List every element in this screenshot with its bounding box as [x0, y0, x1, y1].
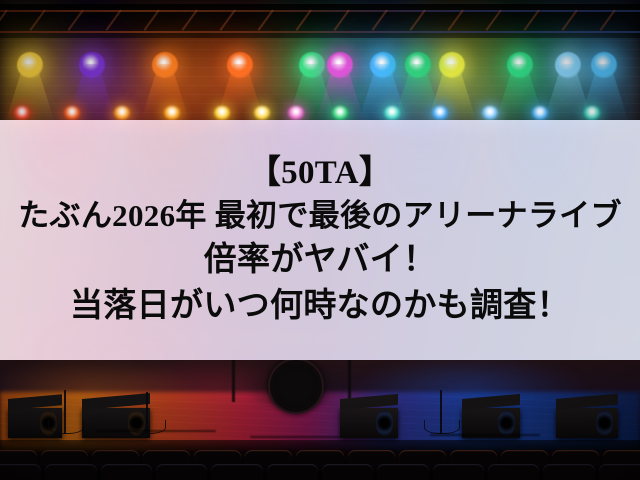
- truss-diagonal: [523, 9, 539, 30]
- monitor-wedge-5: [556, 408, 618, 438]
- audience-seat: [599, 464, 640, 480]
- low-light-5-icon: [214, 106, 230, 120]
- truss-diagonal: [143, 9, 159, 30]
- lighting-truss: [0, 4, 640, 38]
- spotlight-11-beam-cone: [314, 64, 366, 126]
- audience-seat: [488, 464, 539, 480]
- low-light-7-icon: [288, 106, 304, 120]
- audience-seat: [377, 464, 428, 480]
- monitor-wedge-3: [340, 408, 398, 438]
- audience-seat: [433, 464, 484, 480]
- mic-stand-3: [440, 390, 442, 434]
- stage-cable-2: [250, 436, 340, 438]
- spotlight-12-beam-cone: [392, 64, 444, 126]
- seat-row: [0, 464, 640, 480]
- title-overlay-band: 【50TA】 たぶん2026年 最初で最後のアリーナライブ 倍率がヤバイ！ 当落…: [0, 120, 640, 360]
- truss-diagonal: [0, 9, 8, 30]
- low-light-11-icon: [482, 106, 498, 120]
- spotlight-7-beam-cone: [426, 64, 478, 126]
- low-light-9-icon: [384, 106, 400, 120]
- spotlight-3-beam-cone: [139, 64, 191, 126]
- truss-diagonal: [599, 9, 615, 30]
- truss-diagonal: [219, 9, 235, 30]
- low-light-8-icon: [332, 106, 348, 120]
- title-line-2: たぶん2026年 最初で最後のアリーナライブ: [18, 200, 622, 233]
- mic-stand-1: [64, 390, 66, 434]
- mic-stand-1-tripod-base: [48, 420, 84, 434]
- spotlight-4-beam-cone: [214, 64, 266, 126]
- spotlight-1-icon: [17, 52, 43, 78]
- truss-diagonal: [409, 9, 425, 30]
- spotlight-9-beam-cone: [542, 64, 594, 126]
- spotlight-2-icon: [79, 52, 105, 78]
- stage-cable-1: [96, 430, 216, 432]
- title-line-1: 【50TA】: [248, 156, 392, 191]
- low-light-4-icon: [164, 106, 180, 120]
- audience-seat: [45, 464, 96, 480]
- audience-seat: [322, 464, 373, 480]
- spotlight-10-beam-cone: [578, 64, 630, 126]
- monitor-wedge-4-driver: [498, 410, 515, 436]
- truss-diagonal: [371, 9, 387, 30]
- low-light-1-icon: [14, 106, 30, 120]
- truss-diagonal: [105, 9, 121, 30]
- spotlight-12-icon: [405, 52, 431, 78]
- audience-seat: [211, 464, 262, 480]
- truss-diagonal: [485, 9, 501, 30]
- audience-seating: [0, 452, 640, 480]
- spotlight-3-icon: [152, 52, 178, 78]
- stage-light-colorwash: [0, 0, 640, 130]
- title-line-4: 当落日がいつ何時なのかも調査！: [70, 289, 570, 324]
- spotlight-8-icon: [507, 52, 533, 78]
- low-light-3-icon: [114, 106, 130, 120]
- truss-diagonal: [257, 9, 273, 30]
- low-light-10-icon: [432, 106, 448, 120]
- spotlight-6-icon: [370, 52, 396, 78]
- truss-diagonal: [447, 9, 463, 30]
- bass-drum-icon: [268, 358, 324, 414]
- audience-seat: [156, 464, 207, 480]
- truss-diagonal: [67, 9, 83, 30]
- truss-diagonal: [295, 9, 311, 30]
- truss-diagonal: [333, 9, 349, 30]
- truss-bar-top: [0, 10, 640, 12]
- audience-seat: [0, 464, 41, 480]
- spotlight-5-beam-cone: [286, 64, 338, 126]
- audience-seat: [267, 464, 318, 480]
- low-light-13-icon: [584, 106, 600, 120]
- stage-thumbnail-image: 【50TA】 たぶん2026年 最初で最後のアリーナライブ 倍率がヤバイ！ 当落…: [0, 0, 640, 480]
- spotlight-9-icon: [555, 52, 581, 78]
- spotlight-11-icon: [327, 52, 353, 78]
- monitor-wedge-3-driver: [376, 410, 393, 436]
- truss-bar-bottom: [0, 31, 640, 33]
- cymbal-stand-right: [348, 356, 351, 402]
- spotlight-6-beam-cone: [357, 64, 409, 126]
- mic-stand-3-tripod-base: [424, 420, 460, 434]
- spotlight-10-icon: [591, 52, 617, 78]
- low-light-12-icon: [532, 106, 548, 120]
- truss-diagonal: [29, 9, 45, 30]
- title-line-3: 倍率がヤバイ！: [204, 243, 437, 278]
- audience-seat: [543, 464, 594, 480]
- spotlight-2-beam-cone: [66, 64, 118, 126]
- mic-stand-2: [146, 392, 148, 434]
- truss-diagonal: [181, 9, 197, 30]
- spotlight-7-icon: [439, 52, 465, 78]
- spotlight-5-icon: [299, 52, 325, 78]
- spotlight-8-beam-cone: [494, 64, 546, 126]
- audience-seat: [101, 464, 152, 480]
- stage-haze-streaks: [0, 40, 640, 130]
- stage-cable-3: [430, 434, 540, 436]
- cymbal-stand-left: [232, 356, 235, 402]
- spotlight-1-beam-cone: [4, 64, 56, 126]
- truss-diagonal: [561, 9, 577, 30]
- low-light-6-icon: [254, 106, 270, 120]
- low-light-2-icon: [64, 106, 80, 120]
- spotlight-4-icon: [227, 52, 253, 78]
- monitor-wedge-5-driver: [596, 410, 613, 436]
